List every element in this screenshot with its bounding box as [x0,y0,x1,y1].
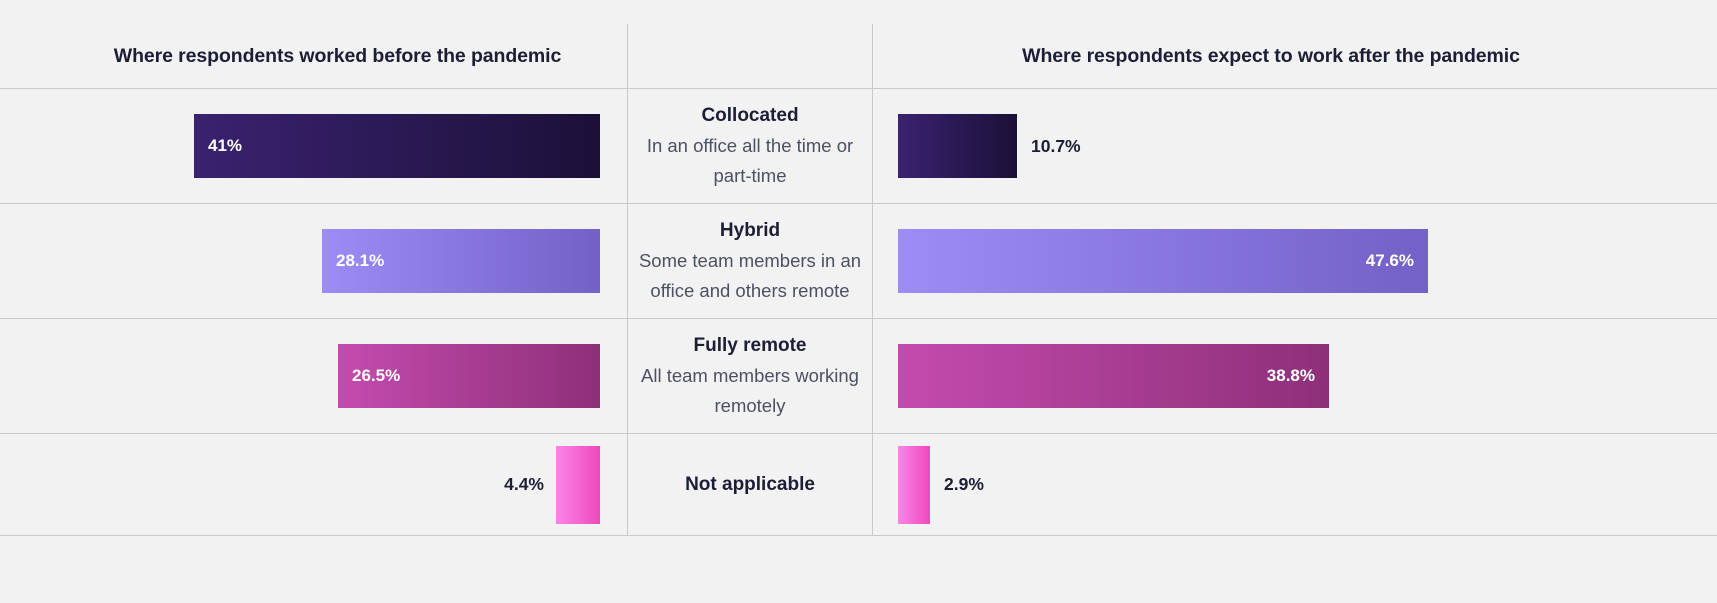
before-cell-fully-remote: 26.5% [48,319,600,433]
bar-after-hybrid[interactable]: 47.6% [898,229,1428,293]
after-cell-not-applicable: 2.9% [898,434,1678,535]
category-cell-hybrid: Hybrid Some team members in an office an… [628,204,872,318]
header-after-cell: Where respondents expect to work after t… [873,24,1669,88]
category-cell-collocated: Collocated In an office all the time or … [628,89,872,203]
bar-after-collocated[interactable] [898,114,1017,178]
category-title-hybrid: Hybrid [720,216,780,246]
bar-before-hybrid[interactable]: 28.1% [322,229,600,293]
before-cell-not-applicable: 4.4% [48,434,600,535]
table-row: 26.5% Fully remote All team members work… [0,318,1717,433]
category-title-collocated: Collocated [701,101,798,131]
bar-label-after-hybrid: 47.6% [1366,251,1428,271]
bar-label-after-not-applicable: 2.9% [944,474,984,495]
before-cell-hybrid: 28.1% [48,204,600,318]
category-cell-fully-remote: Fully remote All team members working re… [628,319,872,433]
table-row: 41% Collocated In an office all the time… [0,88,1717,203]
bar-after-fully-remote[interactable]: 38.8% [898,344,1329,408]
header-before-title: Where respondents worked before the pand… [114,45,561,68]
header-after-title: Where respondents expect to work after t… [1022,45,1520,68]
bar-label-before-not-applicable: 4.4% [504,474,544,495]
comparison-bar-chart: Where respondents worked before the pand… [0,0,1717,603]
bar-before-fully-remote[interactable]: 26.5% [338,344,600,408]
bar-label-before-fully-remote: 26.5% [338,366,400,386]
category-description-collocated: In an office all the time or part-time [634,131,866,191]
category-description-hybrid: Some team members in an office and other… [634,246,866,306]
table-row: 4.4% Not applicable 2.9% [0,433,1717,536]
header-before-cell: Where respondents worked before the pand… [48,24,627,88]
bar-before-collocated[interactable]: 41% [194,114,600,178]
table-row: 28.1% Hybrid Some team members in an off… [0,203,1717,318]
bar-label-after-fully-remote: 38.8% [1267,366,1329,386]
before-cell-collocated: 41% [48,89,600,203]
bar-label-before-collocated: 41% [194,136,242,156]
category-cell-not-applicable: Not applicable [628,434,872,535]
after-cell-collocated: 10.7% [898,89,1678,203]
bar-after-not-applicable[interactable] [898,446,930,524]
bar-label-after-collocated: 10.7% [1031,136,1081,157]
category-description-fully-remote: All team members working remotely [634,361,866,421]
bar-label-before-hybrid: 28.1% [322,251,384,271]
after-cell-fully-remote: 38.8% [898,319,1678,433]
category-title-not-applicable: Not applicable [685,470,815,500]
after-cell-hybrid: 47.6% [898,204,1678,318]
category-title-fully-remote: Fully remote [694,331,807,361]
chart-header: Where respondents worked before the pand… [0,24,1717,88]
bar-before-not-applicable[interactable] [556,446,600,524]
